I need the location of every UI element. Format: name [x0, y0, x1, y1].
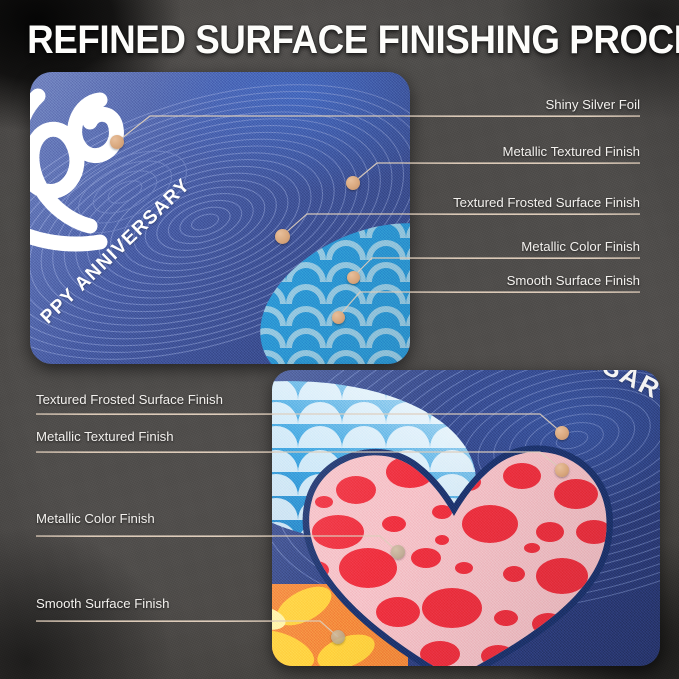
callout-dot-top-3 [275, 229, 290, 244]
label-rule-bottom-4 [36, 621, 274, 622]
label-shiny-silver-foil: Shiny Silver Foil [380, 97, 640, 112]
label-metallic-color-finish: Metallic Color Finish [380, 239, 640, 254]
callout-dot-top-5 [332, 311, 345, 324]
label-rule-top-5 [405, 292, 640, 293]
label-rule-top-4 [405, 258, 640, 259]
label-metallic-color-finish-2: Metallic Color Finish [36, 511, 155, 526]
label-metallic-textured-finish: Metallic Textured Finish [380, 144, 640, 159]
label-rule-bottom-3 [36, 536, 274, 537]
infographic-canvas: REFINED SURFACE FINISHING PROCESS [0, 0, 679, 679]
page-title: REFINED SURFACE FINISHING PROCESS [27, 18, 652, 63]
callout-dot-top-1 [110, 135, 124, 149]
label-textured-frosted-surface-finish-2: Textured Frosted Surface Finish [36, 392, 223, 407]
label-smooth-surface-finish-2: Smooth Surface Finish [36, 596, 169, 611]
card-top-sheen [30, 72, 410, 364]
label-rule-bottom-1 [36, 414, 274, 415]
callout-dot-bottom-2 [555, 463, 569, 477]
label-metallic-textured-finish-2: Metallic Textured Finish [36, 429, 174, 444]
label-rule-top-3 [405, 214, 640, 215]
card-bottom-sheen [272, 370, 660, 666]
label-rule-bottom-2 [36, 452, 274, 453]
callout-dot-bottom-1 [555, 426, 569, 440]
label-smooth-surface-finish: Smooth Surface Finish [380, 273, 640, 288]
callout-dot-top-4 [347, 271, 360, 284]
greeting-card-top-image: PPY ANNIVERSARY [30, 72, 410, 364]
callout-dot-top-2 [346, 176, 360, 190]
label-rule-top-2 [405, 163, 640, 164]
callout-dot-bottom-4 [331, 630, 345, 644]
greeting-card-bottom-image: ERSAR [272, 370, 660, 666]
label-textured-frosted-surface-finish: Textured Frosted Surface Finish [380, 195, 640, 210]
callout-dot-bottom-3 [391, 545, 405, 559]
label-rule-top-1 [405, 116, 640, 117]
